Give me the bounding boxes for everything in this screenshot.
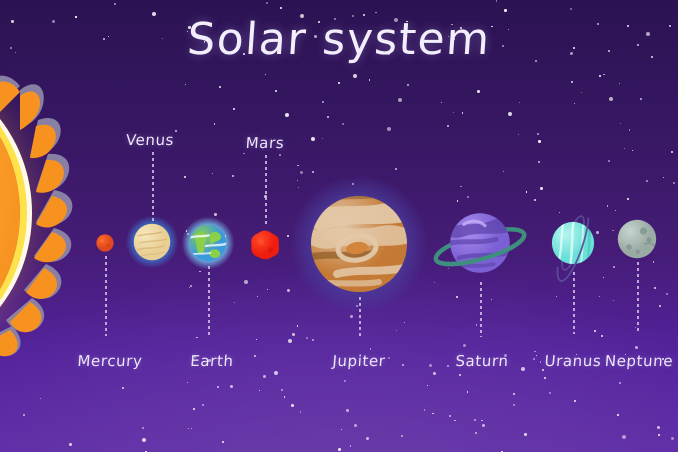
solar-system-infographic: Solar system: [0, 0, 678, 452]
star: [519, 102, 520, 103]
star: [538, 161, 540, 163]
star: [199, 271, 200, 272]
star: [513, 404, 515, 406]
star: [350, 445, 351, 446]
star: [429, 364, 432, 367]
star: [266, 2, 268, 4]
star: [482, 424, 485, 427]
star: [594, 330, 596, 332]
star: [285, 113, 289, 117]
star: [346, 409, 349, 412]
star: [496, 0, 497, 1]
uranus-planet[interactable]: [551, 221, 595, 265]
star: [459, 374, 461, 376]
star: [635, 346, 638, 349]
venus-surface: [134, 224, 170, 260]
star: [513, 393, 514, 394]
star: [454, 420, 455, 421]
star: [233, 108, 235, 110]
star: [477, 90, 480, 93]
star: [671, 151, 673, 153]
star: [607, 205, 608, 206]
star: [463, 344, 466, 347]
mars-surface: [251, 231, 279, 260]
star: [533, 358, 535, 360]
star: [275, 90, 276, 91]
star: [447, 365, 449, 367]
star: [673, 182, 674, 183]
star: [122, 387, 124, 389]
star: [388, 357, 390, 359]
star: [234, 302, 235, 303]
star: [556, 296, 557, 297]
planet-label-mars: Mars: [245, 134, 285, 152]
star: [654, 287, 656, 289]
star: [265, 74, 266, 75]
star: [441, 102, 442, 103]
sun: [0, 50, 170, 380]
star: [298, 187, 299, 188]
star: [671, 437, 674, 440]
star: [613, 266, 615, 268]
star: [447, 125, 449, 127]
saturn-leader-line: [480, 282, 482, 337]
star: [342, 123, 344, 125]
star: [297, 325, 298, 326]
star: [559, 212, 560, 213]
star: [570, 8, 572, 10]
star: [196, 337, 197, 338]
star: [69, 443, 72, 446]
star: [615, 210, 616, 211]
star: [462, 112, 463, 113]
planet-label-uranus: Uranus: [544, 352, 602, 370]
neptune-planet[interactable]: [617, 219, 657, 259]
star: [659, 305, 661, 307]
star: [230, 385, 233, 388]
star: [635, 327, 636, 328]
star: [375, 12, 376, 13]
star: [350, 315, 353, 318]
star: [369, 79, 370, 80]
star: [475, 432, 477, 434]
star: [188, 428, 189, 429]
star: [609, 97, 613, 101]
star: [537, 133, 539, 135]
planet-label-mercury: Mercury: [77, 352, 143, 370]
star: [427, 385, 428, 386]
mars-leader-line: [265, 155, 267, 227]
star: [433, 372, 436, 375]
star: [460, 186, 461, 187]
star: [402, 364, 404, 366]
star: [281, 389, 283, 391]
star: [257, 296, 258, 297]
neptune-leader-line: [637, 262, 639, 334]
star: [467, 391, 468, 392]
star: [476, 324, 477, 325]
star: [521, 367, 525, 371]
planet-label-jupiter: Jupiter: [332, 352, 386, 370]
star: [571, 81, 573, 83]
star: [395, 168, 397, 170]
star: [186, 230, 187, 231]
star: [449, 415, 451, 417]
star: [291, 404, 294, 407]
star: [508, 112, 512, 116]
star: [300, 411, 301, 412]
mars-planet[interactable]: [250, 230, 280, 260]
star: [663, 177, 664, 178]
jupiter-planet[interactable]: [309, 194, 409, 294]
star: [187, 382, 188, 383]
star: [279, 154, 281, 156]
earth-leader-line: [208, 266, 210, 336]
star: [190, 285, 192, 287]
star: [142, 427, 144, 429]
star: [297, 180, 298, 181]
star: [212, 173, 213, 174]
star: [274, 371, 278, 375]
jupiter-leader-line: [359, 297, 361, 337]
star: [481, 420, 482, 421]
star: [398, 98, 402, 102]
star: [338, 82, 340, 84]
sun-corona-icon: [0, 50, 170, 380]
star: [581, 92, 582, 93]
star: [619, 83, 620, 84]
earth-planet[interactable]: [189, 224, 227, 262]
mercury-surface: [96, 234, 113, 251]
star: [312, 339, 314, 341]
star: [401, 435, 403, 437]
star: [599, 296, 600, 297]
star: [540, 361, 541, 362]
star: [612, 230, 613, 231]
star: [353, 74, 357, 78]
star: [217, 386, 219, 388]
star: [646, 180, 648, 182]
star: [457, 200, 458, 201]
star: [356, 305, 358, 307]
star: [596, 231, 599, 234]
star: [280, 7, 282, 9]
earth-surface: [190, 225, 226, 261]
star: [544, 377, 546, 379]
star: [387, 127, 391, 131]
star: [341, 429, 342, 430]
star: [534, 199, 536, 201]
star: [632, 150, 633, 151]
star: [297, 165, 298, 166]
star: [456, 296, 458, 298]
star: [256, 339, 257, 340]
star: [640, 98, 642, 100]
star: [370, 348, 371, 349]
star: [538, 140, 541, 143]
star: [518, 134, 519, 135]
uranus-leader-line: [573, 272, 575, 334]
star: [627, 198, 629, 200]
star: [603, 277, 604, 278]
planet-label-saturn: Saturn: [455, 352, 509, 370]
star: [658, 434, 660, 436]
star: [467, 196, 469, 198]
star: [267, 289, 268, 290]
saturn-planet[interactable]: [449, 212, 511, 274]
star: [434, 282, 435, 283]
star: [534, 351, 535, 352]
venus-planet[interactable]: [133, 223, 171, 261]
star: [322, 138, 323, 139]
star: [666, 293, 668, 295]
planet-label-neptune: Neptune: [604, 352, 674, 370]
star: [287, 235, 289, 237]
star: [366, 437, 369, 440]
star: [232, 175, 233, 176]
star: [263, 375, 266, 378]
star: [344, 380, 346, 382]
star: [214, 123, 215, 124]
star: [327, 116, 329, 118]
star: [503, 171, 504, 172]
venus-leader-line: [152, 152, 154, 222]
star: [114, 3, 116, 5]
star: [202, 404, 204, 406]
mercury-leader-line: [105, 256, 107, 336]
planet-label-venus: Venus: [125, 131, 174, 149]
star: [424, 409, 425, 410]
star: [574, 400, 576, 402]
star: [453, 112, 454, 113]
star: [142, 438, 146, 442]
star: [300, 171, 303, 174]
star: [603, 74, 604, 75]
star: [624, 148, 625, 149]
star: [657, 426, 660, 429]
star: [23, 414, 24, 415]
star: [244, 280, 248, 284]
star: [338, 448, 341, 451]
star: [432, 413, 433, 414]
star: [608, 160, 610, 162]
star: [254, 355, 256, 357]
star: [622, 435, 626, 439]
star: [549, 392, 551, 394]
star: [574, 103, 575, 104]
star: [214, 213, 217, 216]
star: [474, 419, 476, 421]
star: [243, 153, 244, 154]
star: [222, 441, 224, 443]
star: [617, 414, 618, 415]
star: [40, 398, 41, 399]
star: [284, 396, 285, 397]
star: [404, 322, 405, 323]
star: [526, 191, 527, 192]
star: [540, 187, 543, 190]
star: [504, 9, 507, 12]
star: [193, 408, 195, 410]
star: [619, 382, 621, 384]
star: [407, 84, 409, 86]
star: [524, 433, 527, 436]
star: [292, 333, 295, 336]
star: [288, 339, 292, 343]
mercury-planet[interactable]: [96, 234, 114, 252]
star: [311, 137, 315, 141]
star: [322, 101, 323, 102]
star: [653, 261, 654, 262]
star: [185, 84, 186, 85]
star: [629, 129, 630, 130]
star: [184, 176, 186, 178]
star: [613, 300, 614, 301]
star: [601, 335, 603, 337]
star: [536, 355, 537, 356]
star: [191, 428, 192, 429]
star: [306, 337, 308, 339]
star: [352, 183, 354, 185]
star: [620, 123, 621, 124]
planet-label-earth: Earth: [190, 352, 234, 370]
star: [312, 171, 314, 173]
star: [287, 289, 290, 292]
star: [599, 75, 601, 77]
star: [219, 86, 221, 88]
star: [396, 330, 397, 331]
star: [259, 390, 260, 391]
star: [354, 424, 357, 427]
star: [175, 130, 176, 131]
star: [491, 299, 492, 300]
star: [189, 287, 190, 288]
